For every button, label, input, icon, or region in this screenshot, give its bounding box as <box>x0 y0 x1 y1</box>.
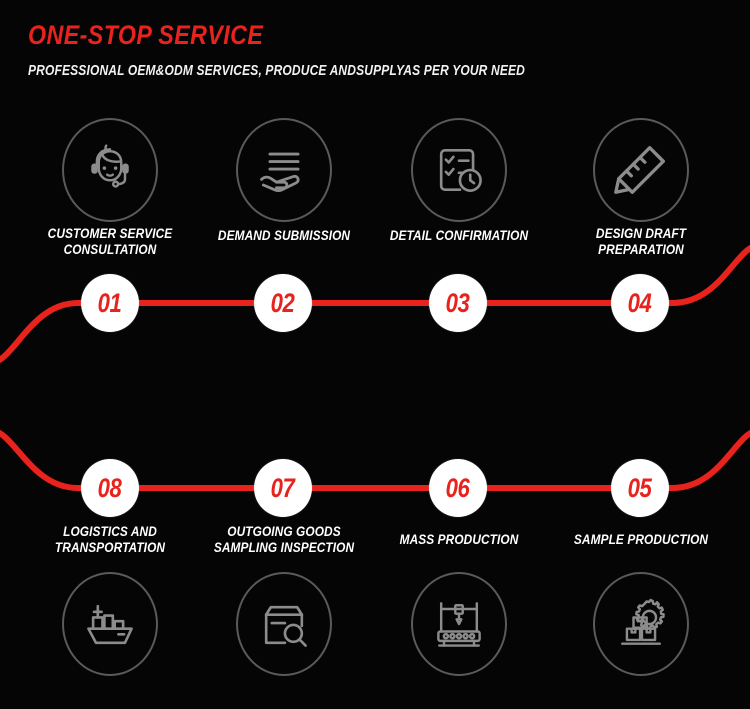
cargo-ship-icon <box>62 572 158 676</box>
step-label-02: DEMAND SUBMISSION <box>200 228 367 244</box>
hand-holding-document-icon <box>236 118 332 222</box>
step-column-07: OUTGOING GOODS SAMPLING INSPECTION <box>196 524 371 704</box>
step-label-03: DETAIL CONFIRMATION <box>375 228 542 244</box>
step-number-07: 07 <box>271 475 295 502</box>
step-bubble-04[interactable]: 04 <box>611 274 669 332</box>
step-number-01: 01 <box>98 290 122 317</box>
box-magnifier-icon <box>236 572 332 676</box>
step-label-07: OUTGOING GOODS SAMPLING INSPECTION <box>200 524 367 555</box>
step-column-06: MASS PRODUCTION <box>371 524 546 704</box>
production-conveyor-machine-icon <box>411 572 507 676</box>
step-number-03: 03 <box>446 290 470 317</box>
page-subtitle: PROFESSIONAL OEM&ODM SERVICES, PRODUCE A… <box>28 62 525 79</box>
customer-service-headset-icon <box>62 118 158 222</box>
step-number-06: 06 <box>446 475 470 502</box>
step-label-06: MASS PRODUCTION <box>375 532 542 548</box>
step-bubble-07[interactable]: 07 <box>254 459 312 517</box>
step-column-05: SAMPLE PRODUCTION <box>553 524 728 704</box>
step-label-08: LOGISTICS AND TRANSPORTATION <box>26 524 193 555</box>
infographic-canvas: ONE-STOP SERVICE PROFESSIONAL OEM&ODM SE… <box>0 0 750 709</box>
step-label-05: SAMPLE PRODUCTION <box>557 532 724 548</box>
step-column-08: LOGISTICS AND TRANSPORTATION <box>22 524 197 704</box>
step-number-04: 04 <box>628 290 652 317</box>
step-label-01: CUSTOMER SERVICE CONSULTATION <box>26 226 193 257</box>
step-bubble-06[interactable]: 06 <box>429 459 487 517</box>
boxes-gear-icon <box>593 572 689 676</box>
page-title: ONE-STOP SERVICE <box>28 20 263 51</box>
step-number-05: 05 <box>628 475 652 502</box>
step-bubble-05[interactable]: 05 <box>611 459 669 517</box>
ruler-pencil-icon <box>593 118 689 222</box>
checklist-clock-icon <box>411 118 507 222</box>
step-number-08: 08 <box>98 475 122 502</box>
step-bubble-03[interactable]: 03 <box>429 274 487 332</box>
step-bubble-01[interactable]: 01 <box>81 274 139 332</box>
step-number-02: 02 <box>271 290 295 317</box>
step-label-04: DESIGN DRAFT PREPARATION <box>557 226 724 257</box>
step-bubble-08[interactable]: 08 <box>81 459 139 517</box>
step-bubble-02[interactable]: 02 <box>254 274 312 332</box>
